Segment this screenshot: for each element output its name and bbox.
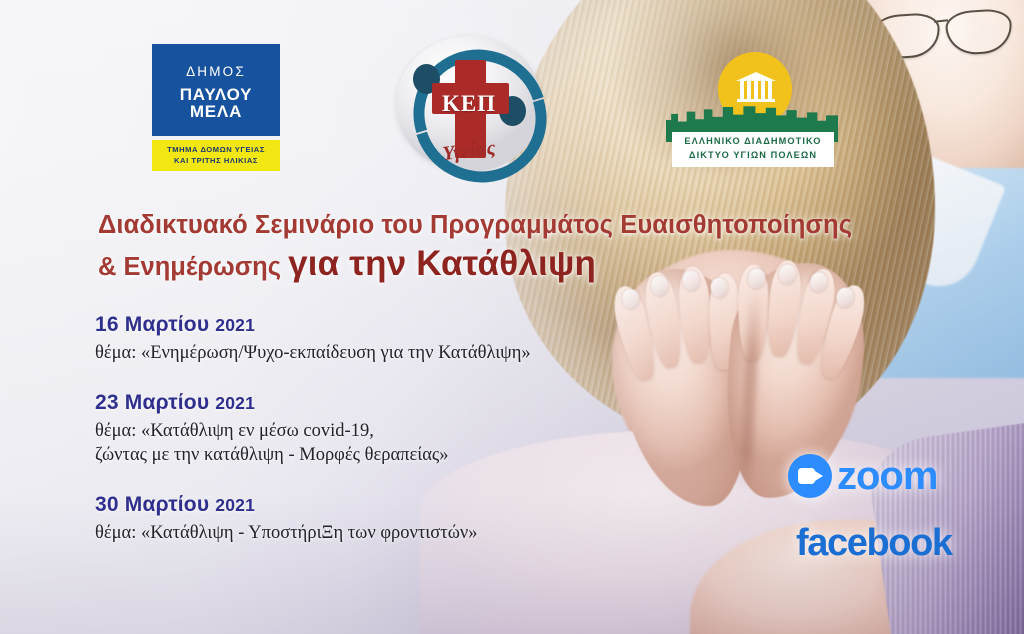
zoom-icon-circle <box>788 454 832 498</box>
seminar-poster: ΔΗΜΟΣ ΠΑΥΛΟΥ ΜΕΛΑ ΤΜΗΜΑ ΔΟΜΩΝ ΥΓΕΙΑΣ ΚΑΙ… <box>0 0 1024 634</box>
headline: Διαδικτυακό Σεμινάριο του Προγραμμάτος Ε… <box>98 212 888 281</box>
kep-acronym: ΚΕΠ <box>396 91 542 117</box>
logo-row: ΔΗΜΟΣ ΠΑΥΛΟΥ ΜΕΛΑ ΤΜΗΜΑ ΔΟΜΩΝ ΥΓΕΙΑΣ ΚΑΙ… <box>0 0 1024 180</box>
session-date-day: 16 Μαρτίου <box>95 313 215 336</box>
session-date-day: 30 Μαρτίου <box>95 493 215 516</box>
network-label: ΕΛΛΗΝΙΚΟ ΔΙΑΔΗΜΟΤΙΚΟ ΔΙΚΤΥΟ ΥΓΙΩΝ ΠΟΛΕΩΝ <box>672 132 834 167</box>
headline-line-2: & Ενημέρωσης για την Κατάθλιψη <box>98 246 888 281</box>
temple-icon <box>738 72 774 102</box>
wrist-shadow <box>880 556 1000 626</box>
zoom-logo[interactable]: zoom <box>788 454 937 498</box>
video-camera-icon <box>798 468 823 484</box>
dimos-line1: ΔΗΜΟΣ <box>158 65 274 79</box>
headline-line-2-light: & Ενημέρωσης <box>98 253 288 281</box>
session-date-year: 2021 <box>215 495 255 515</box>
session-item: 16 Μαρτίου 2021 θέμα: «Ενημέρωση/Ψυχο-εκ… <box>95 312 735 366</box>
session-topic: θέμα: «Ενημέρωση/Ψυχο-εκπαίδευση για την… <box>95 341 735 365</box>
kep-ygeias-logo: ΚΕΠ Υγείας <box>396 36 542 172</box>
zoom-wordmark: zoom <box>837 456 937 496</box>
dimos-department-strip: ΤΜΗΜΑ ΔΟΜΩΝ ΥΓΕΙΑΣ ΚΑΙ ΤΡΙΤΗΣ ΗΛΙΚΙΑΣ <box>152 140 280 171</box>
headline-line-2-strong: για την Κατάθλιψη <box>288 244 596 283</box>
session-list: 16 Μαρτίου 2021 θέμα: «Ενημέρωση/Ψυχο-εκ… <box>95 312 735 569</box>
dimos-strip-line2: ΚΑΙ ΤΡΙΤΗΣ ΗΛΙΚΙΑΣ <box>154 155 278 166</box>
dimos-box: ΔΗΜΟΣ ΠΑΥΛΟΥ ΜΕΛΑ <box>152 44 280 136</box>
dimos-paulou-mela-logo: ΔΗΜΟΣ ΠΑΥΛΟΥ ΜΕΛΑ ΤΜΗΜΑ ΔΟΜΩΝ ΥΓΕΙΑΣ ΚΑΙ… <box>152 44 280 171</box>
session-date-day: 23 Μαρτίου <box>95 391 215 414</box>
healthy-cities-network-logo: ΕΛΛΗΝΙΚΟ ΔΙΑΔΗΜΟΤΙΚΟ ΔΙΚΤΥΟ ΥΓΙΩΝ ΠΟΛΕΩΝ <box>666 48 838 158</box>
headline-line-1: Διαδικτυακό Σεμινάριο του Προγραμμάτος Ε… <box>98 212 888 239</box>
session-date: 16 Μαρτίου 2021 <box>95 312 735 338</box>
session-topic-line: θέμα: «Κατάθλιψη - ΥποστήριΞη των φροντι… <box>95 521 735 545</box>
session-topic-line: θέμα: «Ενημέρωση/Ψυχο-εκπαίδευση για την… <box>95 341 735 365</box>
session-date-year: 2021 <box>215 315 255 335</box>
session-date: 30 Μαρτίου 2021 <box>95 492 735 518</box>
session-item: 23 Μαρτίου 2021 θέμα: «Κατάθλιψη εν μέσω… <box>95 390 735 468</box>
network-label-line1: ΕΛΛΗΝΙΚΟ ΔΙΑΔΗΜΟΤΙΚΟ <box>672 135 834 149</box>
session-topic: θέμα: «Κατάθλιψη - ΥποστήριΞη των φροντι… <box>95 521 735 545</box>
hand-gap-shadow <box>739 290 761 490</box>
session-topic: θέμα: «Κατάθλιψη εν μέσω covid-19, ζώντα… <box>95 419 735 468</box>
session-topic-line: ζώντας με την κατάθλιψη - Μορφές θεραπεί… <box>95 443 735 467</box>
session-item: 30 Μαρτίου 2021 θέμα: «Κατάθλιψη - Υποστ… <box>95 492 735 546</box>
dimos-strip-line1: ΤΜΗΜΑ ΔΟΜΩΝ ΥΓΕΙΑΣ <box>154 144 278 155</box>
session-topic-line: θέμα: «Κατάθλιψη εν μέσω covid-19, <box>95 419 735 443</box>
facebook-logo[interactable]: facebook <box>796 522 952 565</box>
session-date: 23 Μαρτίου 2021 <box>95 390 735 416</box>
dimos-line2: ΠΑΥΛΟΥ ΜΕΛΑ <box>158 86 274 120</box>
nurse-shirt <box>880 168 1024 378</box>
network-label-line2: ΔΙΚΤΥΟ ΥΓΙΩΝ ΠΟΛΕΩΝ <box>672 149 834 163</box>
session-date-year: 2021 <box>215 393 255 413</box>
